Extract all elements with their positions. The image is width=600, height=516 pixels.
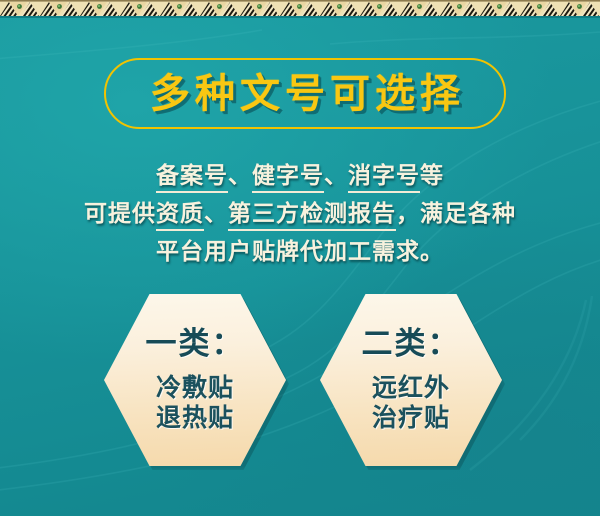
body-keyword: 备案号 [156,163,228,193]
body-paragraph: 备案号、健字号、消字号等 可提供资质、第三方检测报告，满足各种 平台用户贴牌代加… [0,157,600,271]
body-line: 平台用户贴牌代加工需求。 [0,233,600,271]
title-frame: 多种文号可选择 [104,58,506,129]
top-ornament-band [0,0,600,18]
body-text: 、 [324,163,348,189]
poster-canvas: 多种文号可选择 备案号、健字号、消字号等 可提供资质、第三方检测报告，满足各种 … [0,0,600,516]
category-item: 治疗贴 [372,403,450,433]
body-text: 、 [228,163,252,189]
body-text: ，满足各种 [396,201,516,227]
body-text: 等 [420,163,444,189]
body-keyword: 资质 [156,201,204,231]
body-text: 、 [204,201,228,227]
body-line: 备案号、健字号、消字号等 [0,157,600,195]
category-title: 一类： [146,327,245,361]
category-title: 二类： [362,327,461,361]
body-text: 可提供 [84,201,156,227]
body-keyword: 健字号 [252,163,324,193]
category-item: 冷敷贴 [156,373,234,403]
body-keyword: 第三方检测报告 [228,201,396,231]
body-line: 可提供资质、第三方检测报告，满足各种 [0,195,600,233]
body-keyword: 消字号 [348,163,420,193]
category-item: 远红外 [372,373,450,403]
category-item: 退热贴 [156,403,234,433]
band-pattern-icon [0,0,600,18]
body-text: 平台用户贴牌代加工需求。 [156,239,444,265]
page-title: 多种文号可选择 [145,74,465,114]
